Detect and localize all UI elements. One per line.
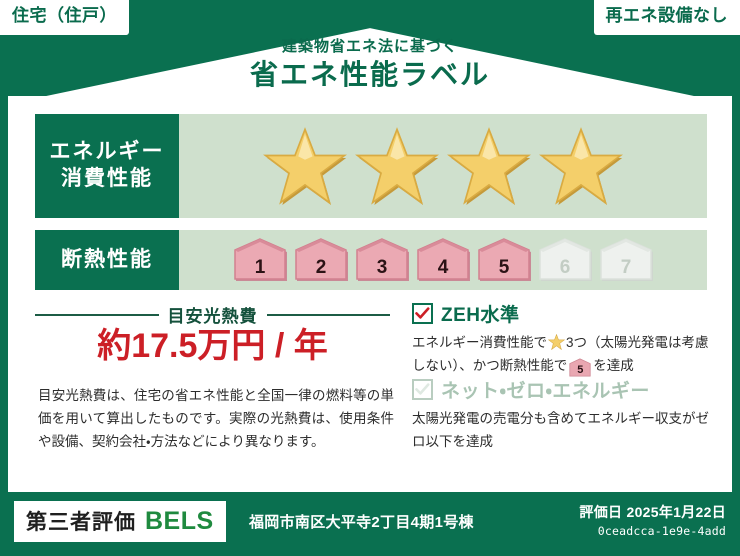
renewable-equipment-tag: 再エネ設備なし <box>594 0 740 35</box>
energy-performance-label-line2: 消費性能 <box>61 166 153 193</box>
star-icon <box>539 126 623 206</box>
label-title: 省エネ性能ラベル <box>0 57 740 92</box>
heading-rule-right <box>267 314 391 316</box>
footer-meta: 評価日 2025年1月22日 0ceadcca-1e9e-4add <box>579 502 726 538</box>
insulation-performance-label: 断熱性能 <box>35 230 179 290</box>
star-icon <box>548 334 565 350</box>
criterion-net-zero-energy-title: ネット・ゼロ・エネルギー <box>441 376 650 403</box>
criterion-zeh-title: ZEH水準 <box>441 300 520 327</box>
insulation-level-2: 2 <box>293 238 349 282</box>
insulation-level-value: 4 <box>438 257 449 279</box>
criterion-net-zero-energy-header: ネット・ゼロ・エネルギー <box>412 376 718 403</box>
insulation-level-value: 6 <box>560 257 571 279</box>
label-subtitle: 建築物省エネ法に基づく <box>0 38 740 56</box>
energy-performance-label-line1: エネルギー <box>50 139 165 166</box>
criterion-zeh-header: ZEH水準 <box>412 300 718 327</box>
criterion-zeh: ZEH水準 エネルギー消費性能で3つ（太陽光発電は考慮しない）、かつ断熱性能で5… <box>412 300 718 377</box>
criterion-net-zero-energy-description: 太陽光発電の売電分も含めてエネルギー収支がゼロ以下を達成 <box>412 408 718 453</box>
insulation-level-1: 1 <box>232 238 288 282</box>
insulation-level-value: 5 <box>499 257 510 279</box>
criterion-zeh-description: エネルギー消費性能で3つ（太陽光発電は考慮しない）、かつ断熱性能で5を達成 <box>412 332 718 377</box>
insulation-level-5: 5 <box>476 238 532 282</box>
title-block: 建築物省エネ法に基づく 省エネ性能ラベル <box>0 38 740 92</box>
criterion-zeh-desc-part1: エネルギー消費性能で <box>412 335 547 350</box>
energy-performance-row: エネルギー 消費性能 <box>35 114 707 218</box>
bels-badge: 第三者評価 BELS <box>14 501 226 542</box>
star-rating <box>179 114 707 218</box>
insulation-level-value: 2 <box>316 257 327 279</box>
utility-cost-amount: 約17.5万円 / 年 <box>35 326 390 367</box>
insulation-level-value: 1 <box>255 257 266 279</box>
label-card: エネルギー 消費性能 断熱性能 1234567 目安光熱費 約17.5万円 / … <box>8 96 732 492</box>
utility-cost-heading-text: 目安光熱費 <box>168 302 258 327</box>
footer-band: 第三者評価 BELS 福岡市南区大平寺2丁目4期1号棟 評価日 2025年1月2… <box>0 492 740 556</box>
energy-performance-label: エネルギー 消費性能 <box>35 114 179 218</box>
bels-japanese-label: 第三者評価 <box>26 506 136 536</box>
insulation-level-scale: 1234567 <box>179 230 707 290</box>
energy-performance-label: 住宅（住戸） 再エネ設備なし 建築物省エネ法に基づく 省エネ性能ラベル エネルギ… <box>0 0 740 556</box>
insulation-level-value: 7 <box>621 257 632 279</box>
star-icon <box>355 126 439 206</box>
utility-cost-heading: 目安光熱費 <box>35 302 390 327</box>
insulation-level-4: 4 <box>415 238 471 282</box>
insulation-level-6: 6 <box>537 238 593 282</box>
check-icon <box>412 303 433 324</box>
star-icon <box>447 126 531 206</box>
insulation-level-7: 7 <box>598 238 654 282</box>
insulation-performance-row: 断熱性能 1234567 <box>35 230 707 290</box>
building-type-label: 住宅（住戸） <box>12 6 117 25</box>
star-icon <box>263 126 347 206</box>
bels-logo-text: BELS <box>145 507 214 536</box>
building-type-tag: 住宅（住戸） <box>0 0 129 35</box>
evaluation-date: 評価日 2025年1月22日 <box>579 502 726 522</box>
criterion-zeh-desc-part3: を達成 <box>593 358 634 373</box>
renewable-equipment-label: 再エネ設備なし <box>606 6 729 25</box>
insulation-level-badge: 5 <box>569 358 591 375</box>
criterion-net-zero-energy: ネット・ゼロ・エネルギー 太陽光発電の売電分も含めてエネルギー収支がゼロ以下を達… <box>412 376 718 453</box>
property-address: 福岡市南区大平寺2丁目4期1号棟 <box>249 511 474 532</box>
insulation-level-3: 3 <box>354 238 410 282</box>
insulation-performance-label-text: 断熱性能 <box>61 247 153 274</box>
insulation-level-value: 3 <box>377 257 388 279</box>
empty-check-icon <box>412 379 433 400</box>
heading-rule-left <box>35 314 159 316</box>
insulation-level-badge-value: 5 <box>577 364 583 376</box>
evaluation-id: 0ceadcca-1e9e-4add <box>579 524 726 538</box>
utility-cost-note: 目安光熱費は、住宅の省エネ性能と全国一律の燃料等の単価を用いて算出したものです。… <box>38 384 394 454</box>
